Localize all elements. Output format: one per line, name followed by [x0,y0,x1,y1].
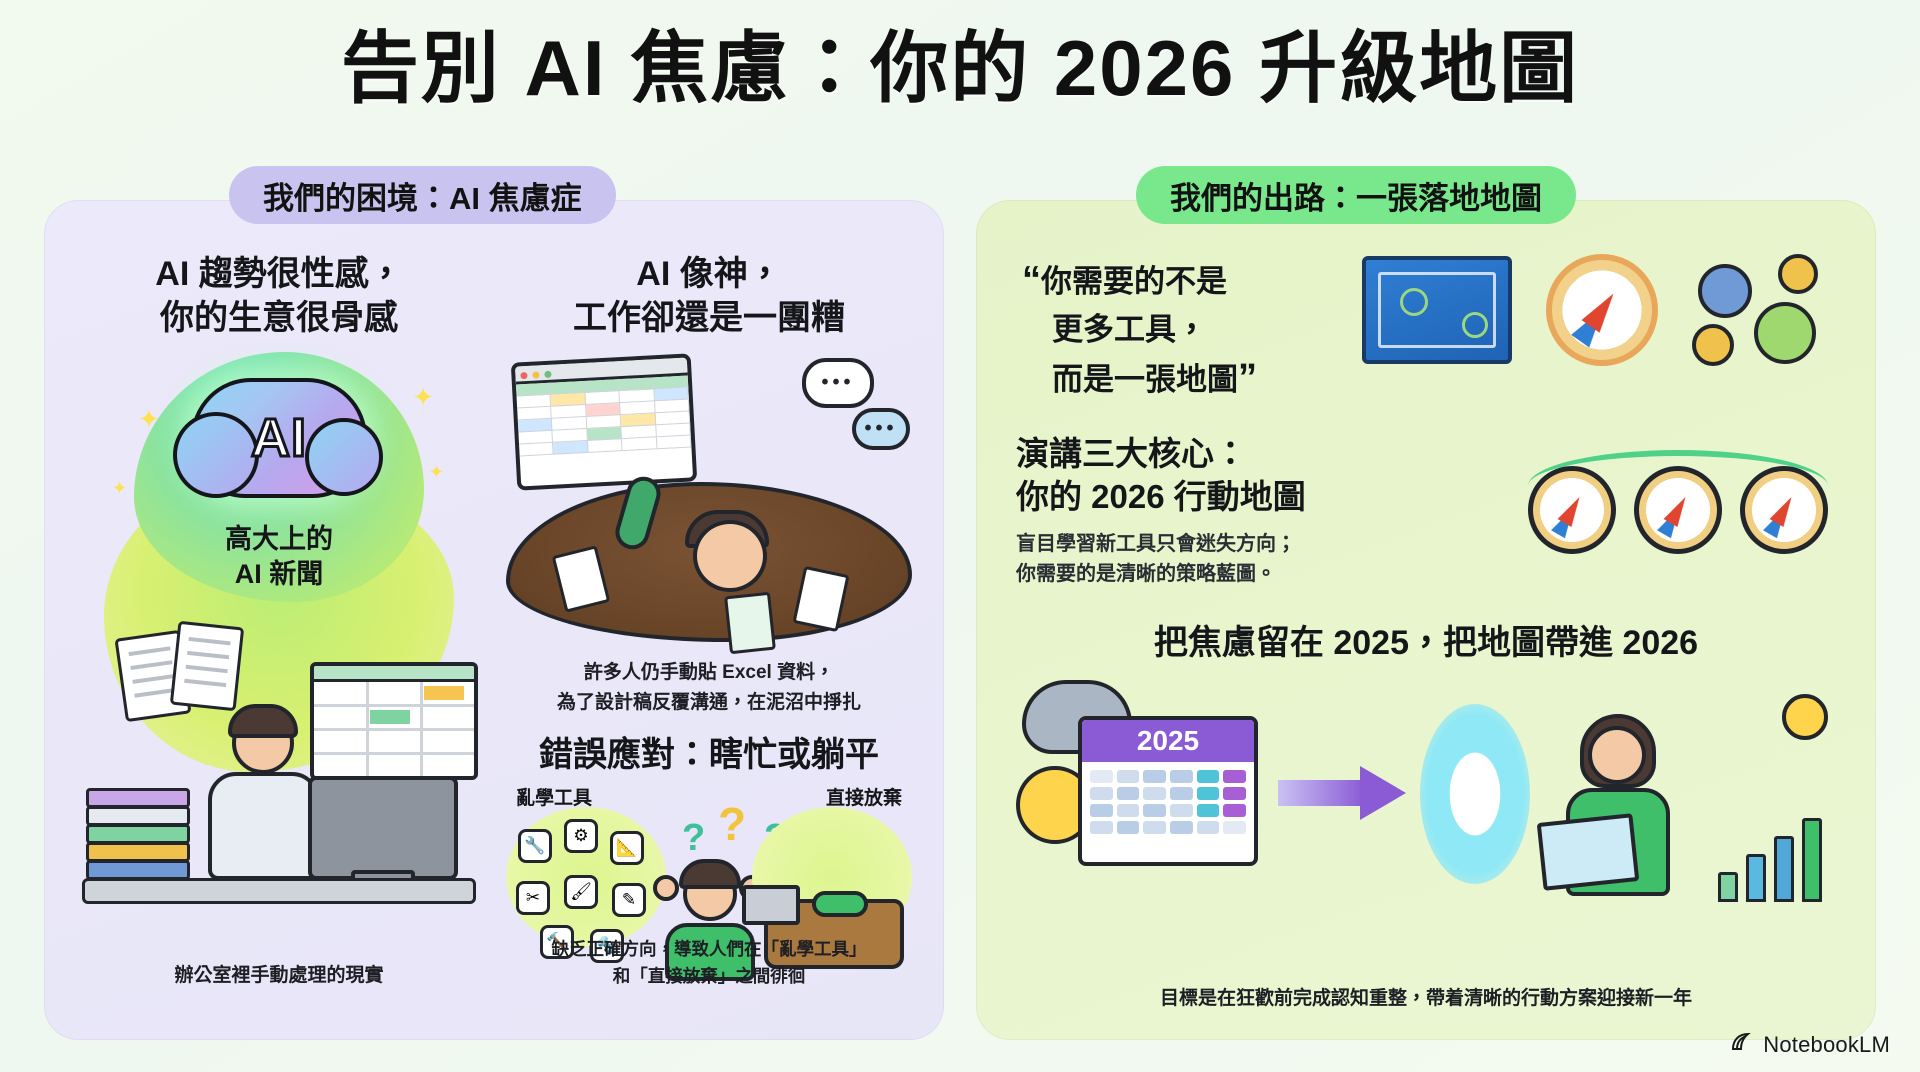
chart-bar [1718,872,1738,902]
three-cores-heading: 演講三大核心： 你的 2026 行動地圖 [1016,432,1306,519]
problem-column-ai-trend: AI 趨勢很性感， 你的生意很骨感 AI ✦ ✦ ✦ ✦ 高大上的 AI 新聞 [64,252,494,1016]
label-learn-tools: 亂學工具 [516,783,592,810]
gear-compass-icon-3 [1740,466,1828,554]
chart-bar [1802,818,1822,902]
calendar-days-grid [1082,762,1254,842]
quote-open-mark: “ [1022,259,1041,301]
mud-caption-line2: 為了設計稿反覆溝通，在泥沼中掙扎 [506,688,912,717]
wrong-response-caption: 缺乏正確方向，導致人們在「亂學工具」 和「直接放棄」之間徘徊 [494,936,924,990]
ai-news-label: 高大上的 AI 新聞 [76,522,482,591]
mud-caption: 許多人仍手動貼 Excel 資料， 為了設計稿反覆溝通，在泥沼中掙扎 [506,658,912,717]
sparkle-icon: ✦ [138,404,160,435]
problem-panel: 我們的困境：AI 焦慮症 AI 趨勢很性感， 你的生意很骨感 AI ✦ ✦ ✦ [44,200,944,1040]
person-head [1588,726,1646,784]
gear-compass-icon-1 [1528,466,1616,554]
three-gear-compasses [1520,466,1836,554]
quote-line3: 而是一張地圖 [1052,358,1238,402]
question-mark-icon: ? [718,797,746,851]
scissors-icon: ✂ [516,881,550,915]
chart-bar [1746,854,1766,902]
wrong-response-heading: 錯誤應對：瞎忙或躺平 [506,733,912,777]
document-icon [170,621,244,711]
worker-body [208,772,320,880]
anxiety-to-map-line: 把焦慮留在 2025，把地圖帶進 2026 [1016,615,1836,664]
gear-blue [1698,264,1752,318]
brush-icon: 🖌 [564,875,598,909]
floating-paper-icon [724,592,776,654]
solution-panel-body: “你需要的不是 更多工具， 而是一張地圖 ” [976,200,1876,1040]
panels-container: 我們的困境：AI 焦慮症 AI 趨勢很性感， 你的生意很骨感 AI ✦ ✦ ✦ [0,200,1920,1040]
transition-arrow-icon [1278,766,1410,820]
solution-icon-row [1362,254,1836,366]
bubble-dots: ••• [864,418,897,441]
sun-icon [1782,694,1828,740]
ai-news-illustration: AI ✦ ✦ ✦ ✦ 高大上的 AI 新聞 [76,352,482,652]
three-cores-sub: 盲目學習新工具只會迷失方向； 你需要的是清晰的策略藍圖。 [1016,529,1306,589]
quote-close-mark: ” [1238,352,1257,406]
spreadsheet-window-icon [511,354,697,491]
three-cores-heading-line2: 你的 2026 行動地圖 [1016,475,1306,519]
sparkle-icon: ✦ [429,462,444,483]
quote-row: “你需要的不是 更多工具， 而是一張地圖 ” [1016,254,1836,406]
stressed-hair [679,859,741,889]
held-map-icon [1537,813,1640,891]
gears-icon [1692,254,1822,366]
three-cores-heading-line1: 演講三大核心： [1016,432,1306,476]
light-portal-icon [1420,704,1530,884]
chat-bubble-icon: ••• [802,358,874,408]
gear-green [1754,302,1816,364]
column-b-heading-line2: 工作卻還是一團糟 [506,296,912,340]
sparkle-icon: ✦ [112,478,127,499]
three-cores-sub-line1: 盲目學習新工具只會迷失方向； [1016,529,1306,559]
quote-line1: 你需要的不是 [1041,264,1227,299]
column-a-heading: AI 趨勢很性感， 你的生意很骨感 [76,252,482,340]
wrong-response-caption-line2: 和「直接放棄」之間徘徊 [494,963,924,990]
column-a-heading-line2: 你的生意很骨感 [76,296,482,340]
three-cores-sub-line2: 你需要的是清晰的策略藍圖。 [1016,559,1306,589]
ruler-icon: 📐 [610,831,644,865]
ai-news-label-line2: AI 新聞 [76,557,482,592]
page-title: 告別 AI 焦慮：你的 2026 升級地圖 [0,0,1920,110]
mud-pit [506,482,912,642]
chat-bubble-icon: ••• [852,408,910,450]
three-cores-row: 演講三大核心： 你的 2026 行動地圖 盲目學習新工具只會迷失方向； 你需要的… [1016,432,1836,589]
mud-struggle-illustration: ••• ••• [506,350,912,650]
chart-bar [1774,836,1794,902]
column-b-heading-line1: AI 像神， [506,252,912,296]
calendar-2025-icon: 2025 [1078,716,1258,866]
sparkle-icon: ✦ [412,382,434,413]
compass-icon [1546,254,1658,366]
notebooklm-watermark: NotebookLM [1731,1032,1890,1058]
gear-orange [1692,324,1734,366]
problem-panel-grid: AI 趨勢很性感， 你的生意很骨感 AI ✦ ✦ ✦ ✦ 高大上的 AI 新聞 [44,200,944,1040]
column-b-heading: AI 像神， 工作卻還是一團糟 [506,252,912,340]
pen-icon: ✎ [612,883,646,917]
growth-chart-icon [1714,806,1834,902]
stuck-person-face [693,520,767,592]
column-a-heading-line1: AI 趨勢很性感， [76,252,482,296]
floating-paper-icon [793,566,850,632]
floating-paper-icon [551,546,610,613]
problem-column-ai-god: AI 像神， 工作卻還是一團糟 [494,252,924,1016]
gear-yellow [1778,254,1818,294]
monitor-icon [308,776,458,880]
lying-person-figure [812,891,868,917]
three-cores-text: 演講三大核心： 你的 2026 行動地圖 盲目學習新工具只會迷失方向； 你需要的… [1016,432,1306,589]
desk-surface [82,878,476,904]
label-give-up: 直接放棄 [826,783,902,810]
notebooklm-label: NotebookLM [1763,1032,1890,1058]
bubble-dots: ••• [821,372,854,395]
ai-cloud-icon: AI [191,378,367,498]
ai-news-label-line1: 高大上的 [76,522,482,557]
notebooklm-logo-icon [1731,1032,1755,1058]
wrench-icon: 🔧 [518,829,552,863]
quote-line2: 更多工具， [1022,308,1257,352]
transformation-illustration: 2025 [1016,670,1836,920]
mud-caption-line1: 許多人仍手動貼 Excel 資料， [506,658,912,687]
office-desk-illustration [64,630,494,930]
wrong-response-caption-line1: 缺乏正確方向，導致人們在「亂學工具」 [494,936,924,963]
map-quote: “你需要的不是 更多工具， 而是一張地圖 ” [1016,254,1257,406]
calendar-year-label: 2025 [1082,720,1254,762]
solution-caption: 目標是在狂歡前完成認知重整，帶着清晰的行動方案迎接新一年 [976,983,1876,1010]
gear-icon: ⚙ [564,819,598,853]
office-caption: 辦公室裡手動處理的現實 [64,961,494,990]
person-with-map-figure [1536,710,1706,900]
solution-panel: 我們的出路：一張落地地圖 “你需要的不是 更多工具， 而是一張地圖 ” [976,200,1876,1040]
paper-stack-icon [86,740,194,880]
gear-compass-icon-2 [1634,466,1722,554]
blueprint-map-icon [1362,256,1512,364]
worker-hair [228,704,298,738]
ai-cloud-text: AI [251,407,307,469]
stressed-hand-left [653,875,679,901]
laptop-icon [742,885,800,925]
